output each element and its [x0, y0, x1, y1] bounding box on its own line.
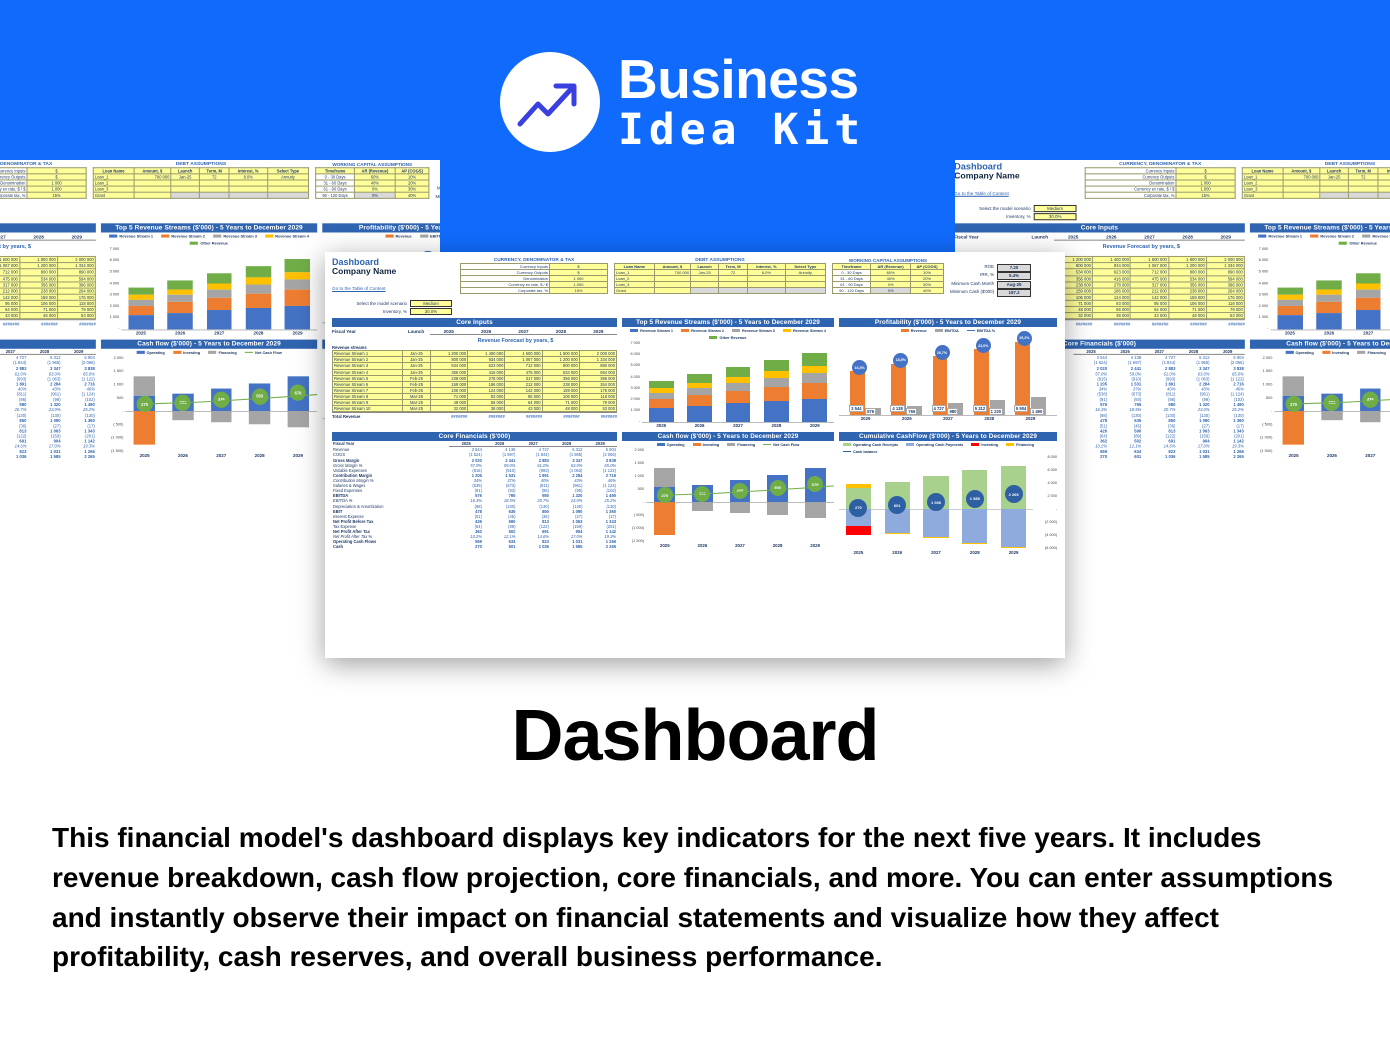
x-tick: 2027 [200, 331, 239, 336]
bar-segment [1356, 273, 1381, 283]
core-financials-title: Core Financials ($'000) [0, 340, 96, 349]
table-row[interactable]: Revenue Stream 10Mar-2532 00038 00043 00… [333, 406, 617, 412]
chart-legend: Revenue Stream 1Revenue Stream 2Revenue … [622, 327, 834, 341]
inventory-input[interactable]: 30.0% [1034, 213, 1077, 220]
ebitda-pct-bubble: 25,2% [1017, 331, 1032, 346]
currency-row-label: Denomination [0, 180, 27, 186]
core-inputs-col: Core InputsFiscal YearLaunch202520262027… [0, 224, 96, 336]
legend-swatch [190, 242, 198, 245]
table-row[interactable]: Revenue Stream 3Jan-25534 000623 000712 … [0, 269, 95, 275]
legend-label: Investing [1332, 351, 1349, 355]
legend-label: Revenue Stream 2 [171, 234, 205, 238]
x-tick: 2025 [125, 453, 163, 458]
bar-segment [1316, 302, 1341, 313]
bar-segment [726, 367, 751, 377]
y-tick: 1 000 [622, 408, 640, 412]
bar-segment [802, 383, 827, 399]
legend-swatch [727, 443, 735, 446]
dashboard-header-left: DashboardCompany NameGo to the Table of … [955, 162, 1079, 220]
bar-segment [285, 290, 310, 306]
bar-column [167, 280, 192, 329]
legend-item: Revenue Stream 2 [681, 329, 724, 333]
bar-column [649, 381, 674, 422]
year-header: 2025 [430, 329, 467, 335]
year-header: 2029 [1207, 235, 1245, 241]
table-row[interactable]: Revenue Stream 2Jan-25800 000934 0001 06… [0, 263, 95, 269]
stream-value: 38 000 [1093, 313, 1131, 319]
legend-swatch [935, 329, 943, 332]
axis-spacer [622, 423, 642, 428]
ebitda-bar: 765 [907, 406, 922, 416]
page-description: This financial model's dashboard display… [52, 818, 1342, 977]
legend-item: EBITDA % [967, 329, 995, 333]
table-row[interactable]: 61 - 90 Days0%30% [316, 186, 429, 192]
legend-label: Operating [146, 351, 164, 355]
stream-value: 317 000 [0, 282, 19, 288]
table-row[interactable]: Corporate tax, %15% [0, 192, 86, 198]
legend-swatch [681, 329, 689, 332]
legend-swatch [1322, 351, 1330, 354]
debt-block: DEBT ASSUMPTIONSLoan NameAmount, $Launch… [614, 258, 826, 315]
legend-item: Operating [136, 351, 164, 355]
year-header: 2028 [20, 235, 58, 241]
fiscal-year-label: Fiscal Year [332, 329, 402, 335]
x-axis-labels: 20252026202720282029 [1250, 453, 1390, 458]
total-revenue-row: Total Revenue###########################… [332, 412, 617, 419]
debt-cell [134, 192, 171, 198]
plot-area [642, 341, 834, 423]
stream-value: 475 000 [0, 275, 19, 281]
dashboard-top-row: DashboardCompany NameGo to the Table of … [332, 258, 1058, 315]
inventory-label: Inventory, % [332, 309, 410, 314]
total-revenue-row: Total Revenue###########################… [0, 320, 96, 327]
legend-swatch [1357, 351, 1365, 354]
ebitda-label: 980 [947, 408, 958, 415]
bar-segment [246, 284, 271, 294]
x-tick: 2027 [202, 453, 240, 458]
y-axis: -1 0002 0003 0004 0005 0006 0007 000 [1250, 247, 1270, 331]
scenario-select[interactable]: Medium [410, 300, 452, 307]
core-financials-panel: Core Financials ($'000)Fiscal Year202520… [332, 432, 617, 549]
inventory-input[interactable]: 30.0% [410, 308, 452, 315]
bar-column [1277, 287, 1302, 329]
kpi-value: Aug-25 [997, 281, 1031, 289]
y-tick: 1 500 [101, 369, 123, 373]
x-tick: 2026 [684, 543, 722, 548]
y-tick: 7 000 [622, 341, 640, 345]
kpi-block: ROE7.20IRR, %5.4%Minimum Cash MonthAug-2… [436, 162, 441, 220]
legend-item: Net Cash Flow [245, 351, 282, 355]
legend-item: Investing [173, 351, 200, 355]
y-tick: - [101, 409, 123, 413]
y-tick: 500 [1250, 396, 1272, 400]
revenue-bar: 5 904 [1015, 342, 1030, 415]
core-inputs-header: Fiscal YearLaunch20252026202720282029 [0, 233, 96, 242]
dashboard-top-row: DashboardCompany NameGo to the Table of … [0, 162, 440, 220]
cell-value: 1 585 [27, 454, 61, 459]
kpi-label: IRR, % [980, 272, 997, 280]
chart-legend: RevenueEBITDAEBITDA % [322, 233, 440, 240]
bar-segment [802, 399, 827, 422]
table-row[interactable]: Revenue Stream 6Feb-25159 000186 000212 … [0, 288, 95, 294]
legend-item: Revenue [385, 234, 411, 238]
total-revenue-value: ####### [0, 321, 20, 326]
legend-item: Other Revenue [1339, 241, 1377, 245]
debt-table: Loan NameAmount, $LaunchTerm, MInterest,… [614, 263, 826, 294]
legend-label: Revenue Stream 4 [793, 329, 826, 333]
chart-legend: Operating Cash ReceiptsOperating Cash Pa… [839, 441, 1057, 455]
bar-segment [649, 399, 674, 408]
legend-item: Financing [208, 351, 236, 355]
total-revenue-value: ####### [1092, 321, 1130, 326]
legend-swatch [385, 235, 393, 238]
table-row[interactable]: 31 - 60 Days40%20% [316, 180, 429, 186]
wc-cell: 40% [395, 192, 429, 198]
chart-title: Top 5 Revenue Streams ($'000) - 5 Years … [101, 224, 317, 233]
total-revenue-value: ####### [542, 414, 579, 419]
financing-bar [846, 484, 871, 489]
currency-table: Currency Inputs$Currency Outputs$Denomin… [1085, 167, 1236, 199]
bar-segment [687, 395, 712, 406]
bar-group: 5 3121 22023,0% [974, 334, 1005, 415]
working-capital-block: WORKING CAPITAL ASSUMPTIONSTimeframeAR (… [315, 162, 429, 220]
table-row[interactable]: Grant [1242, 192, 1390, 198]
legend-label: Revenue Stream 1 [1268, 234, 1302, 238]
x-tick: 2026 [161, 331, 200, 336]
dashboard-screenshot-main[interactable]: DashboardCompany NameGo to the Table of … [325, 252, 1065, 658]
bar-segment [764, 401, 789, 422]
bar-segment [207, 310, 232, 329]
y-tick: 4 000 [1035, 481, 1057, 485]
core-financials-table: Fiscal Year20252026202720282029Revenue3 … [0, 349, 96, 459]
stream-value: 142 000 [0, 294, 19, 300]
table-row[interactable]: Revenue Stream 8Mar-2571 00083 00095 000… [0, 300, 95, 306]
kpi-value: 187.2 [997, 289, 1031, 297]
y-tick: 4 000 [101, 281, 119, 285]
revenue-forecast-table: Revenue Stream 1Jan-251 200 0001 400 000… [332, 350, 617, 412]
legend-item: Revenue Stream 1 [630, 329, 673, 333]
table-row[interactable]: 61 - 90 Days0%30% [833, 282, 944, 288]
chart-legend: Revenue Stream 1Revenue Stream 2Revenue … [1250, 233, 1390, 247]
kpi-row: IRR, %5.4% [950, 272, 1031, 280]
table-header-row: Fiscal Year20252026202720282029 [0, 349, 96, 355]
table-row[interactable]: Corporate tax, %15% [461, 288, 608, 294]
kpi-row: Minimum Cash MonthAug-25 [436, 185, 441, 193]
stream-value: 53 000 [57, 313, 95, 319]
table-row[interactable]: Grant [93, 192, 308, 198]
legend-label: Investing [703, 443, 720, 447]
x-tick: 2028 [757, 423, 795, 428]
stream-value: 212 000 [0, 288, 19, 294]
table-row[interactable]: Revenue Stream 9Mar-2548 00056 00064 000… [0, 307, 95, 313]
legend-swatch [265, 235, 273, 238]
bar-segment [1277, 315, 1302, 329]
currency-row-label: Currency Inputs [0, 168, 27, 174]
y-tick: ( 500) [1250, 422, 1272, 426]
bar-column [207, 273, 232, 329]
table-header-row: TimeframeAR (Revenue)AP (COGS) [833, 264, 944, 270]
legend-item: Other Revenue [190, 241, 228, 245]
y-tick: 5 000 [101, 270, 119, 274]
plot-area: 270331435550679 [646, 448, 834, 543]
legend-swatch [420, 235, 428, 238]
debt-cell [1348, 192, 1378, 198]
legend-item: Investing [693, 443, 720, 447]
core-inputs-panel: Core InputsFiscal YearLaunch202520262027… [332, 318, 617, 419]
kpi-label: Minimum Cash ($'000) [436, 194, 441, 202]
currency-row-value: 15% [1176, 192, 1235, 198]
wc-cell: 90 - 120 Days [316, 192, 355, 198]
total-revenue-value: ####### [580, 414, 617, 419]
stream-value: 48 000 [19, 313, 57, 319]
core-financials-col: Core Financials ($'000)Fiscal Year202520… [0, 340, 96, 465]
bar-segment [207, 273, 232, 283]
x-tick: 2026 [164, 453, 202, 458]
x-tick: 2027 [1351, 453, 1389, 458]
legend-label: Revenue [911, 329, 927, 333]
cell-value: 270 [1074, 454, 1108, 459]
total-revenue-value: ####### [467, 414, 504, 419]
legend-swatch [1006, 443, 1014, 446]
wc-cell: 0% [355, 192, 396, 198]
total-revenue-value: ####### [58, 321, 96, 326]
core-financials-col: Core Financials ($'000)Fiscal Year202520… [332, 432, 617, 555]
table-row[interactable]: 0 - 30 Days60%10% [316, 174, 429, 180]
bar-column [246, 266, 271, 329]
core-inputs-title: Core Inputs [332, 318, 617, 327]
y-tick: 7 000 [1250, 247, 1268, 251]
debt-cell [267, 192, 308, 198]
legend-swatch [1285, 351, 1293, 354]
y-tick: - [622, 500, 644, 504]
table-row[interactable]: Corporate tax, %15% [1085, 192, 1235, 198]
x-tick: 2025 [121, 331, 160, 336]
x-tick: 2027 [721, 543, 759, 548]
table-row[interactable]: 31 - 60 Days40%20% [833, 276, 944, 282]
total-revenue-value: ####### [505, 414, 542, 419]
debt-cell [1320, 192, 1348, 198]
currency-block: CURRENCY, DENOMINATOR & TAXCurrency Inpu… [460, 258, 608, 315]
year-header: 2028 [1169, 235, 1207, 241]
y-tick: 6 000 [622, 352, 640, 356]
debt-cell [654, 288, 690, 294]
top5-col: Top 5 Revenue Streams ($'000) - 5 Years … [622, 318, 834, 428]
ebitda-bar: 576 [866, 408, 881, 415]
cell-value: 1 036 [0, 454, 27, 459]
table-row[interactable]: Revenue Stream 1Jan-251 200 0001 400 000… [0, 257, 95, 263]
axis-spacer [1250, 453, 1274, 458]
y-tick: 1 000 [622, 474, 644, 478]
chart-cumulative-cashflow: Cumulative CashFlow ($'000) - 5 Years to… [839, 432, 1057, 555]
y-axis: 8 0006 0004 0002 000-(2 000)(4 000)(6 00… [1033, 455, 1057, 550]
chart-top5-revenue: Top 5 Revenue Streams ($'000) - 5 Years … [101, 224, 317, 336]
legend-label: Revenue Stream 3 [1372, 234, 1390, 238]
debt-cell [229, 192, 267, 198]
legend-label: Financing [737, 443, 755, 447]
y-tick: 3 000 [1250, 292, 1268, 296]
x-axis-labels: 20252026202720282029 [101, 331, 317, 336]
table-row[interactable]: Revenue Stream 7Feb-25106 000124 000142 … [0, 294, 95, 300]
scenario-label: Select the model scenario [332, 301, 410, 306]
x-axis-labels: 20252026202720282029 [839, 416, 1057, 421]
year-header: 2027 [0, 235, 20, 241]
forecast-title: Revenue Forecast by years, $ [955, 242, 1245, 251]
y-tick: 500 [101, 396, 123, 400]
fiscal-year-label: Fiscal Year [955, 235, 1026, 241]
currency-block: CURRENCY, DENOMINATOR & TAXCurrency Inpu… [1085, 162, 1236, 220]
revenue-label: 4 727 [932, 405, 946, 412]
legend-item: Operating Cash Payments [906, 443, 963, 447]
x-axis-labels: 20252026202720282029 [622, 423, 834, 428]
y-axis: -1 0002 0003 0004 0005 0006 0007 000 [101, 247, 121, 331]
scenario-select[interactable]: Medium [1034, 205, 1077, 212]
payments-bar [1001, 509, 1026, 546]
working-capital-block: WORKING CAPITAL ASSUMPTIONSTimeframeAR (… [832, 258, 944, 315]
cell-value: 601 [1108, 454, 1142, 459]
chart-plot: 2 0001 5001 000500-( 500)(1 000)(1 500)2… [101, 356, 317, 453]
legend-label: Financing [218, 351, 236, 355]
y-tick: (1 000) [101, 436, 123, 440]
plot-area [1270, 247, 1390, 331]
investing-bar [846, 526, 871, 534]
chart-plot: 2 0001 5001 000500-( 500)(1 000)(1 500)2… [1250, 356, 1390, 453]
bar-segment [167, 280, 192, 289]
table-row[interactable]: 0 - 30 Days60%10% [833, 270, 944, 276]
legend-label: Operating Cash Receipts [853, 443, 898, 447]
core-financials-table: Fiscal Year20252026202720282029Revenue3 … [332, 441, 617, 549]
y-tick: - [1035, 507, 1057, 511]
axis-spacer [1033, 550, 1057, 555]
x-axis-labels: 20252026202720282029 [622, 543, 834, 548]
bar-column [1316, 280, 1341, 329]
core-inputs-header: Fiscal YearLaunch20252026202720282029 [332, 327, 617, 336]
y-tick: 7 000 [101, 247, 119, 251]
y-tick: 3 000 [101, 292, 119, 296]
financing-bar [923, 537, 948, 538]
legend-swatch [967, 330, 975, 331]
cashflow-col: Cash flow ($'000) - 5 Years to December … [101, 340, 317, 465]
chart-plot: 8 0006 0004 0002 000-(2 000)(4 000)(6 00… [839, 455, 1057, 550]
legend-swatch [901, 329, 909, 332]
cell-value: 2 265 [583, 544, 617, 549]
table-row[interactable]: Grant [615, 288, 826, 294]
year-header: 2026 [1092, 235, 1130, 241]
chart-top5-revenue: Top 5 Revenue Streams ($'000) - 5 Years … [1250, 224, 1390, 336]
debt-cell [785, 288, 825, 294]
core-financials-panel: Core Financials ($'000)Fiscal Year202520… [0, 340, 96, 460]
legend-item: Financing [1006, 443, 1034, 447]
y-tick: 1 000 [101, 383, 123, 387]
bar-group: 3 54457616,3% [850, 334, 881, 415]
y-tick: 4 000 [622, 375, 640, 379]
legend-item: Operating Cash Receipts [843, 443, 898, 447]
bar-segment [687, 374, 712, 383]
bar-segment [246, 294, 271, 308]
table-row[interactable]: Revenue Stream 4Jan-25356 000416 000475 … [0, 275, 95, 281]
ebitda-bar: 980 [948, 403, 963, 415]
y-axis: 2 0001 5001 000500-( 500)(1 000)(1 500) [622, 448, 646, 543]
wc-cell: 0% [871, 288, 911, 294]
bar-column [1356, 273, 1381, 329]
x-tick: 2025 [1270, 331, 1309, 336]
total-revenue-label: Total Revenue [332, 414, 430, 419]
bar-group: 4 72798020,7% [933, 334, 964, 415]
debt-cell [171, 192, 199, 198]
core-financials-title: Core Financials ($'000) [332, 432, 617, 441]
legend-item: Operating [1285, 351, 1313, 355]
x-axis-labels: 20252026202720282029 [101, 453, 317, 458]
ebitda-bar: 1 220 [990, 400, 1005, 415]
bar-segment [1277, 306, 1302, 316]
chart-cash-flow: Cash flow ($'000) - 5 Years to December … [622, 432, 834, 548]
legend-item: Financing [727, 443, 755, 447]
brand-logo: Business Idea Kit [500, 52, 865, 152]
stream-value: 48 000 [542, 406, 579, 412]
currency-row-value: 15% [27, 192, 86, 198]
stream-value: 1 067 000 [0, 263, 19, 269]
legend-item: Financing [1357, 351, 1385, 355]
bar-column [726, 367, 751, 422]
legend-label: Investing [981, 443, 998, 447]
x-tick: 2026 [680, 423, 718, 428]
total-revenue-value: ####### [1130, 321, 1168, 326]
legend-item: EBITDA [420, 234, 440, 238]
dashboard-row-2: Core Financials ($'000)Fiscal Year202520… [332, 432, 1058, 555]
table-row[interactable]: 90 - 120 Days0%40% [316, 192, 429, 198]
x-tick: 2029 [1010, 416, 1051, 421]
legend-label: Financing [1367, 351, 1385, 355]
x-tick: 2028 [239, 331, 278, 336]
growth-arrow-icon [500, 52, 600, 152]
legend-swatch [161, 235, 169, 238]
wc-table: TimeframeAR (Revenue)AP (COGS)0 - 30 Day… [315, 167, 429, 199]
inventory-row: Inventory, %30.0% [955, 213, 1079, 220]
revenue-bar: 4 138 [891, 364, 906, 415]
table-of-content-link[interactable]: Go to the Table of Content [955, 191, 1009, 196]
y-tick: 1 000 [1250, 315, 1268, 319]
company-name: Company Name [332, 267, 454, 277]
legend-label: Net Cash Flow [773, 443, 799, 447]
y-tick: 2 000 [1250, 356, 1272, 360]
bar-column [764, 360, 789, 422]
x-tick: 2029 [278, 331, 317, 336]
table-row[interactable]: Revenue Stream 5Feb-25238 000278 000317 … [0, 282, 95, 288]
table-of-content-link[interactable]: Go to the Table of Content [332, 286, 386, 291]
bar-segment [1356, 298, 1381, 311]
legend-label: Revenue Stream 4 [275, 234, 309, 238]
debt-cell [1378, 192, 1390, 198]
legend-item: Revenue Stream 3 [213, 234, 257, 238]
y-tick: 6 000 [1250, 258, 1268, 262]
chart-plot: -1 0002 0003 0004 0005 0006 0007 000 [101, 247, 317, 331]
table-row[interactable]: Revenue Stream 10Mar-2532 00038 00043 00… [0, 313, 95, 319]
x-tick: 2025 [845, 416, 886, 421]
stream-name: Revenue Stream 10 [333, 406, 403, 412]
bar-segment [764, 378, 789, 387]
brand-name-secondary: Idea Kit [618, 109, 865, 152]
chart-profitability: Profitability ($'000) - 5 Years to Decem… [839, 318, 1057, 421]
ebitda-pct-bubble: 20,7% [935, 345, 950, 360]
x-tick: 2025 [642, 423, 680, 428]
debt-cell [748, 288, 786, 294]
legend-label: Revenue Stream 1 [640, 329, 673, 333]
axis-spacer [101, 453, 125, 458]
table-row[interactable]: 90 - 120 Days0%40% [833, 288, 944, 294]
forecast-title: Revenue Forecast by years, $ [332, 336, 617, 345]
dashboard-content: DashboardCompany NameGo to the Table of … [332, 258, 1058, 555]
legend-label: Investing [183, 351, 200, 355]
kpi-value: 7.20 [997, 264, 1031, 272]
